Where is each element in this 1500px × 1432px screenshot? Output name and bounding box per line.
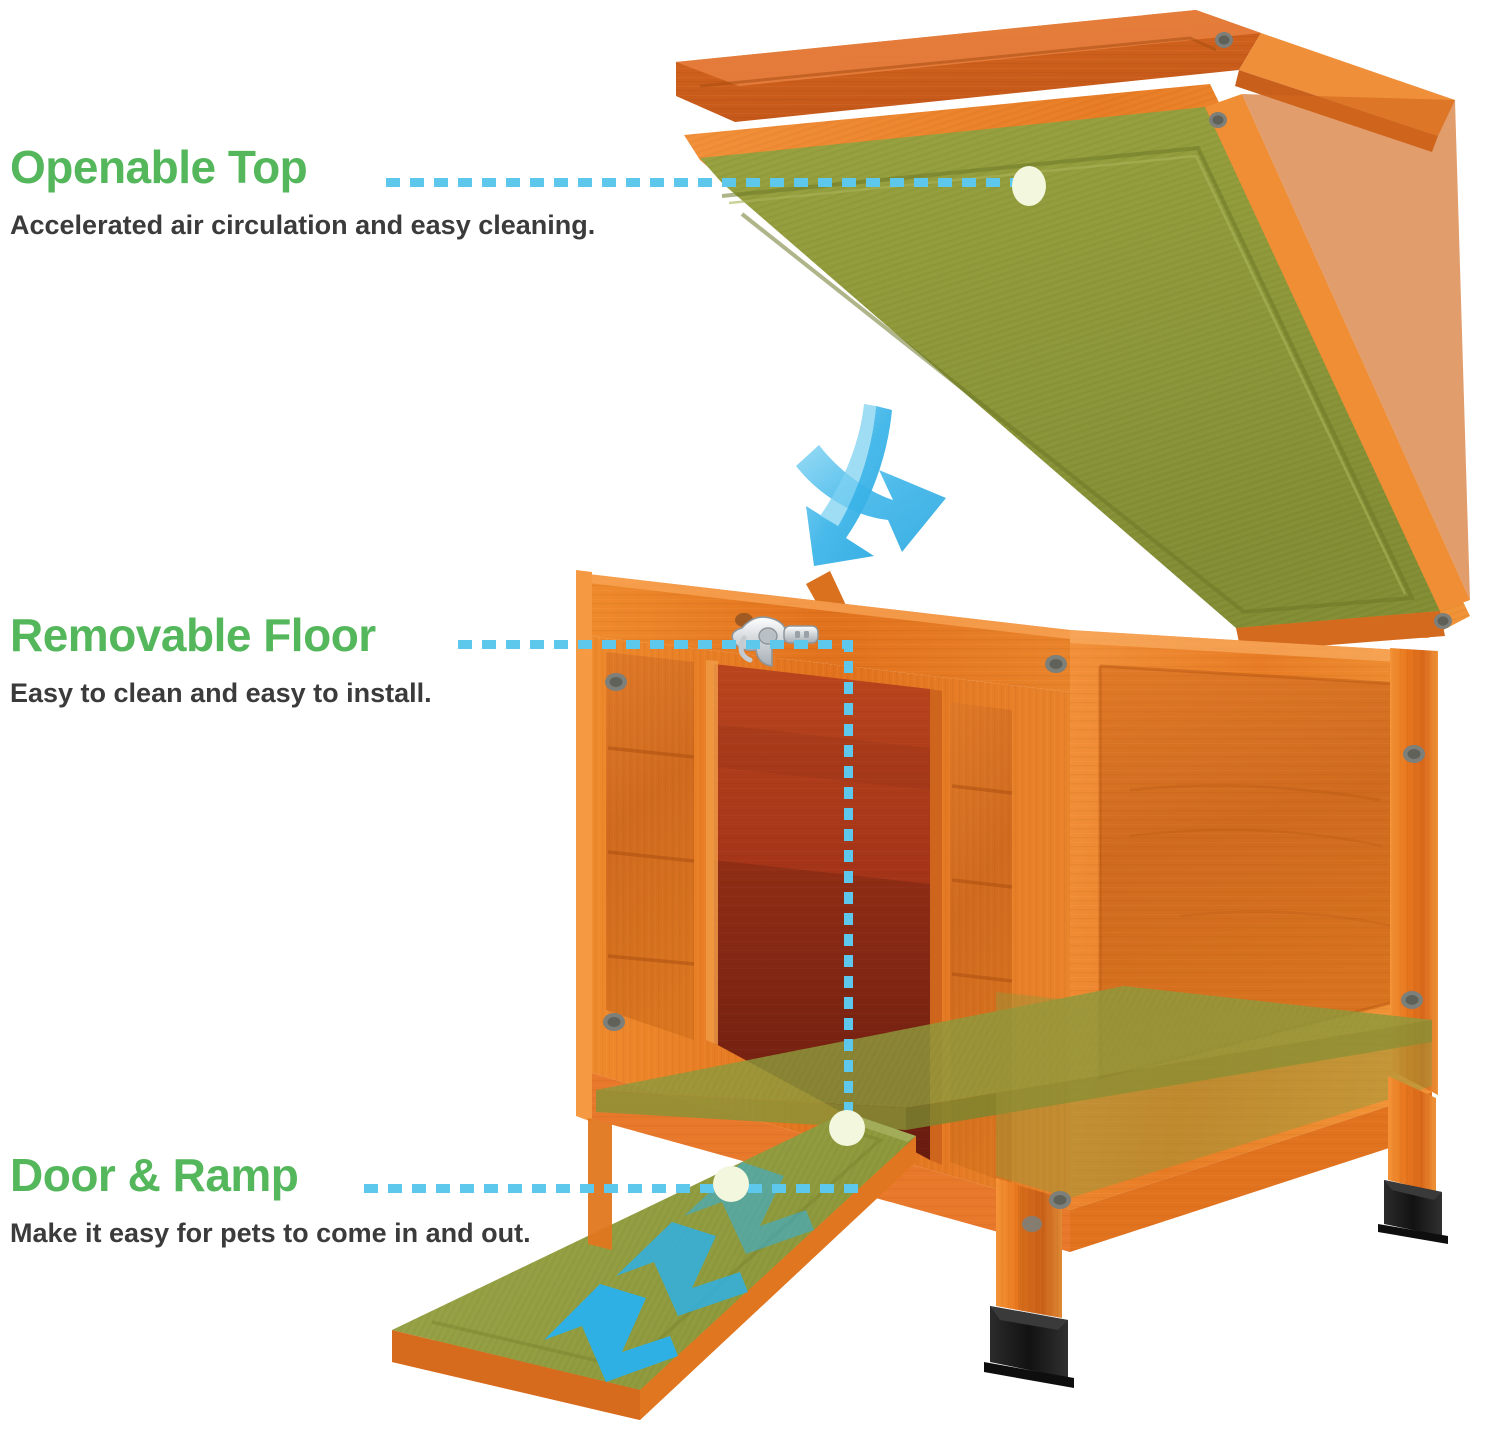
front-left-corner-post [576,570,592,1122]
leg-rear-right [1378,1076,1448,1244]
roof-lid-group [676,10,1470,652]
front-left-stile-panel [606,652,694,1040]
leg-front-center [984,1178,1074,1388]
infographic-canvas: Openable Top Accelerated air circulation… [0,0,1500,1432]
callout-title: Removable Floor [10,612,432,658]
callout-title: Openable Top [10,144,595,190]
leader-endpoint-dot-removable-floor [829,1110,865,1146]
leader-line-removable-floor-vertical [844,640,853,1128]
leader-line-removable-floor [458,640,848,649]
callout-subtitle: Make it easy for pets to come in and out… [10,1220,531,1247]
callout-removable-floor: Removable Floor Easy to clean and easy t… [10,612,432,707]
leader-endpoint-dot-openable-top [1012,166,1046,206]
callout-subtitle: Easy to clean and easy to install. [10,680,432,707]
callout-door-ramp: Door & Ramp Make it easy for pets to com… [10,1152,531,1247]
callout-subtitle: Accelerated air circulation and easy cle… [10,212,595,239]
callout-title: Door & Ramp [10,1152,531,1198]
lid-motion-arrow [796,404,946,566]
leader-endpoint-dot-door-ramp [713,1166,749,1202]
callout-openable-top: Openable Top Accelerated air circulation… [10,144,595,239]
